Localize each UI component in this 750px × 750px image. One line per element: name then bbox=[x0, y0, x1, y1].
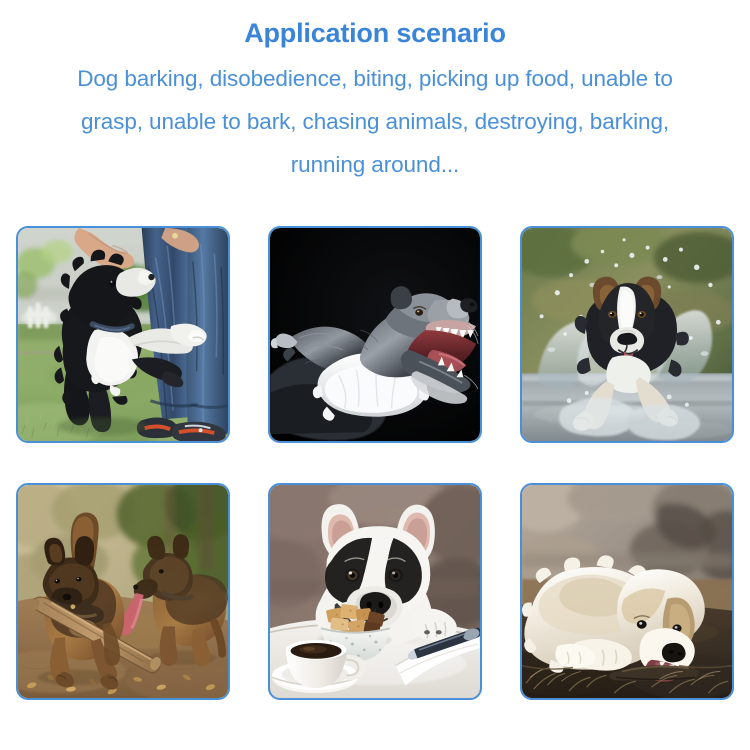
scenario-tile-barking-biting[interactable] bbox=[268, 226, 482, 443]
application-scenario-page: Application scenario Dog barking, disobe… bbox=[0, 0, 750, 750]
photo-puppy-chewing bbox=[522, 485, 732, 698]
photo-jumping-on-person bbox=[18, 228, 228, 441]
photo-dog-eating-biscuits bbox=[270, 485, 480, 698]
subtitle-line-1: Dog barking, disobedience, biting, picki… bbox=[14, 57, 736, 100]
photo-dogs-with-stick bbox=[18, 485, 228, 698]
scenario-tile-running-around[interactable] bbox=[520, 226, 734, 443]
scenario-tile-destroying-chasing[interactable] bbox=[16, 483, 230, 700]
scenario-gallery bbox=[16, 226, 734, 700]
scenario-tile-picking-up-food[interactable] bbox=[268, 483, 482, 700]
page-title: Application scenario bbox=[0, 16, 750, 50]
photo-running-in-water bbox=[522, 228, 732, 441]
subtitle-line-2: grasp, unable to bark, chasing animals, … bbox=[14, 100, 736, 143]
scenario-tile-jumping-on-person[interactable] bbox=[16, 226, 230, 443]
subtitle-line-3: running around... bbox=[14, 143, 736, 186]
header: Application scenario Dog barking, disobe… bbox=[0, 0, 750, 186]
photo-barking-biting bbox=[270, 228, 480, 441]
page-subtitle: Dog barking, disobedience, biting, picki… bbox=[0, 57, 750, 186]
scenario-tile-chewing-destroying[interactable] bbox=[520, 483, 734, 700]
